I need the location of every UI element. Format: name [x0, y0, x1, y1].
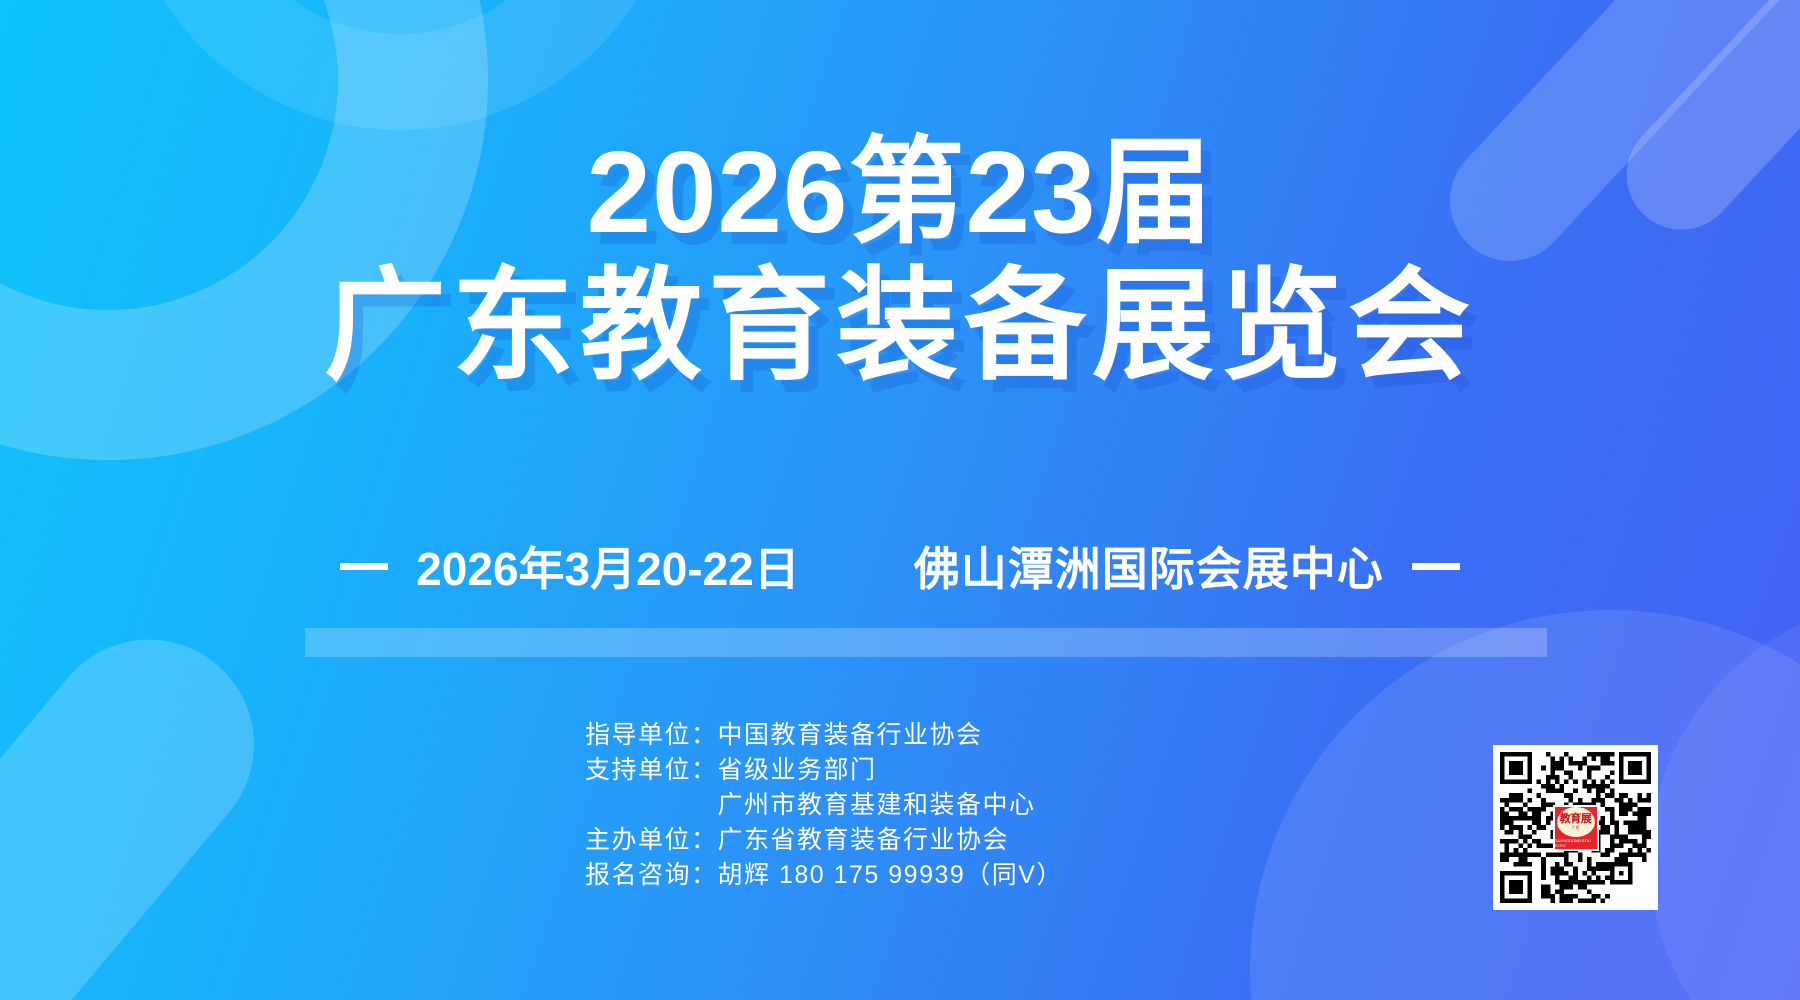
dash-ornament-left — [340, 563, 388, 570]
info-row-support: 支持单位： 省级业务部门 — [585, 753, 1063, 788]
info-label: 支持单位： — [585, 753, 718, 788]
title-line-event-name: 广东教育装备展览会 — [0, 263, 1800, 390]
qr-logo-sub-text: 广东 — [1572, 826, 1580, 830]
qr-logo-tagline: GUANGDONG EDU EXPO — [1555, 838, 1597, 848]
organizer-info-block: 指导单位： 中国教育装备行业协会 支持单位： 省级业务部门 支持单位： 广州市教… — [585, 718, 1063, 893]
qr-code[interactable]: 教育展 广东 GUANGDONG EDU EXPO — [1493, 745, 1658, 910]
event-promo-banner: 2026第23届 广东教育装备展览会 2026年3月20-22日 佛山潭洲国际会… — [0, 0, 1800, 1000]
info-label: 主办单位： — [585, 823, 718, 858]
title-line-edition: 2026第23届 — [0, 132, 1800, 253]
event-venue: 佛山潭洲国际会展中心 — [914, 533, 1384, 599]
info-value: 省级业务部门 — [718, 753, 877, 788]
dash-ornament-right — [1412, 563, 1460, 570]
qr-code-center-logo: 教育展 广东 GUANGDONG EDU EXPO — [1553, 805, 1599, 851]
qr-code-canvas: 教育展 广东 GUANGDONG EDU EXPO — [1500, 752, 1651, 903]
info-row-contact: 报名咨询： 胡辉 180 175 99939（同V） — [585, 858, 1063, 893]
info-row-guidance: 指导单位： 中国教育装备行业协会 — [585, 718, 1063, 753]
qr-logo-main-text: 教育展 — [1560, 814, 1592, 825]
info-label: 指导单位： — [585, 718, 718, 753]
info-value: 广东省教育装备行业协会 — [718, 823, 1010, 858]
banner-content: 2026第23届 广东教育装备展览会 2026年3月20-22日 佛山潭洲国际会… — [0, 0, 1800, 1000]
info-value: 广州市教育基建和装备中心 — [718, 788, 1036, 823]
info-row-organizer: 主办单位： 广东省教育装备行业协会 — [585, 823, 1063, 858]
info-label: 报名咨询： — [585, 858, 718, 893]
info-row-support-second: 支持单位： 广州市教育基建和装备中心 — [585, 788, 1063, 823]
banner-title: 2026第23届 广东教育装备展览会 — [0, 132, 1800, 390]
divider-bar — [305, 628, 1547, 657]
info-value: 胡辉 180 175 99939（同V） — [718, 858, 1063, 893]
event-datetime-venue: 2026年3月20-22日 佛山潭洲国际会展中心 — [0, 533, 1800, 599]
qr-logo-oval: 教育展 广东 — [1557, 807, 1595, 837]
event-date: 2026年3月20-22日 — [416, 533, 800, 599]
info-value: 中国教育装备行业协会 — [718, 718, 983, 753]
